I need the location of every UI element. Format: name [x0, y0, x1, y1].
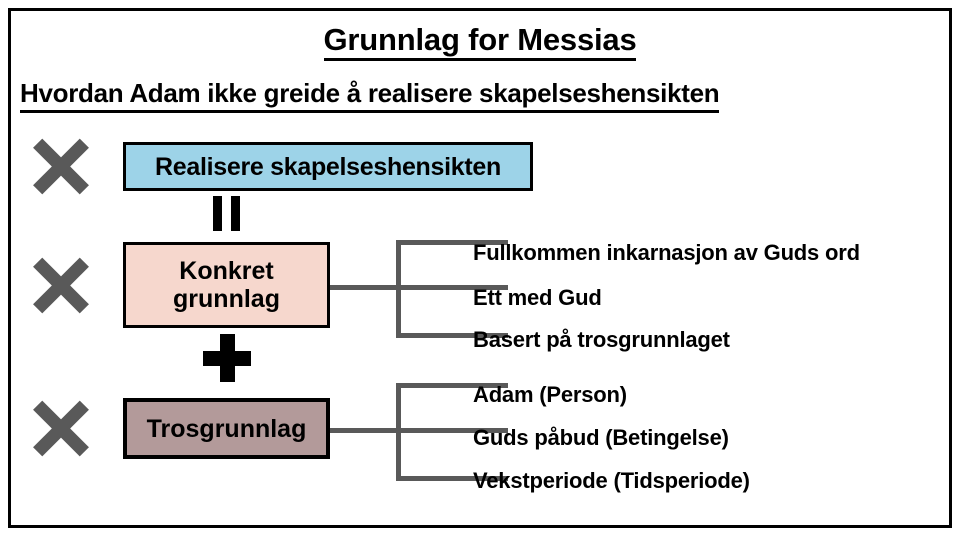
x-mark-konkret-icon [28, 252, 94, 318]
plus-sign-icon [203, 334, 251, 382]
node-konkret-grunnlag: Konkret grunnlag [123, 242, 330, 328]
equals-sign-icon [207, 196, 247, 231]
page-title-text: Grunnlag for Messias [324, 23, 637, 61]
node-realisere-skapelseshensikten: Realisere skapelseshensikten [123, 142, 533, 191]
node-konkret-label: Konkret grunnlag [173, 257, 280, 313]
slide-canvas: Grunnlag for Messias Hvordan Adam ikke g… [0, 0, 960, 540]
detail-item: Vekstperiode (Tidsperiode) [473, 468, 750, 494]
node-realisere-label: Realisere skapelseshensikten [155, 153, 501, 181]
x-mark-realisere-icon [28, 133, 94, 199]
detail-item: Basert på trosgrunnlaget [473, 327, 730, 353]
equals-bar-1 [213, 196, 222, 231]
node-trosgrunnlag: Trosgrunnlag [123, 398, 330, 459]
page-subtitle-text: Hvordan Adam ikke greide å realisere ska… [20, 79, 719, 113]
page-subtitle: Hvordan Adam ikke greide å realisere ska… [20, 78, 719, 113]
detail-item: Fullkommen inkarnasjon av Guds ord [473, 240, 860, 266]
x-mark-trosgrunnlag-icon [28, 395, 94, 461]
bracket-stem [330, 285, 398, 290]
bracket-stem [330, 428, 398, 433]
node-trosgrunnlag-label: Trosgrunnlag [147, 415, 307, 443]
detail-item: Adam (Person) [473, 382, 627, 408]
page-title: Grunnlag for Messias [0, 22, 960, 61]
node-konkret-label-line1: Konkret [179, 257, 273, 285]
detail-item: Guds påbud (Betingelse) [473, 425, 729, 451]
equals-bar-2 [231, 196, 240, 231]
node-konkret-label-line2: grunnlag [173, 285, 280, 313]
detail-item: Ett med Gud [473, 285, 602, 311]
plus-bar-vertical [220, 334, 235, 382]
